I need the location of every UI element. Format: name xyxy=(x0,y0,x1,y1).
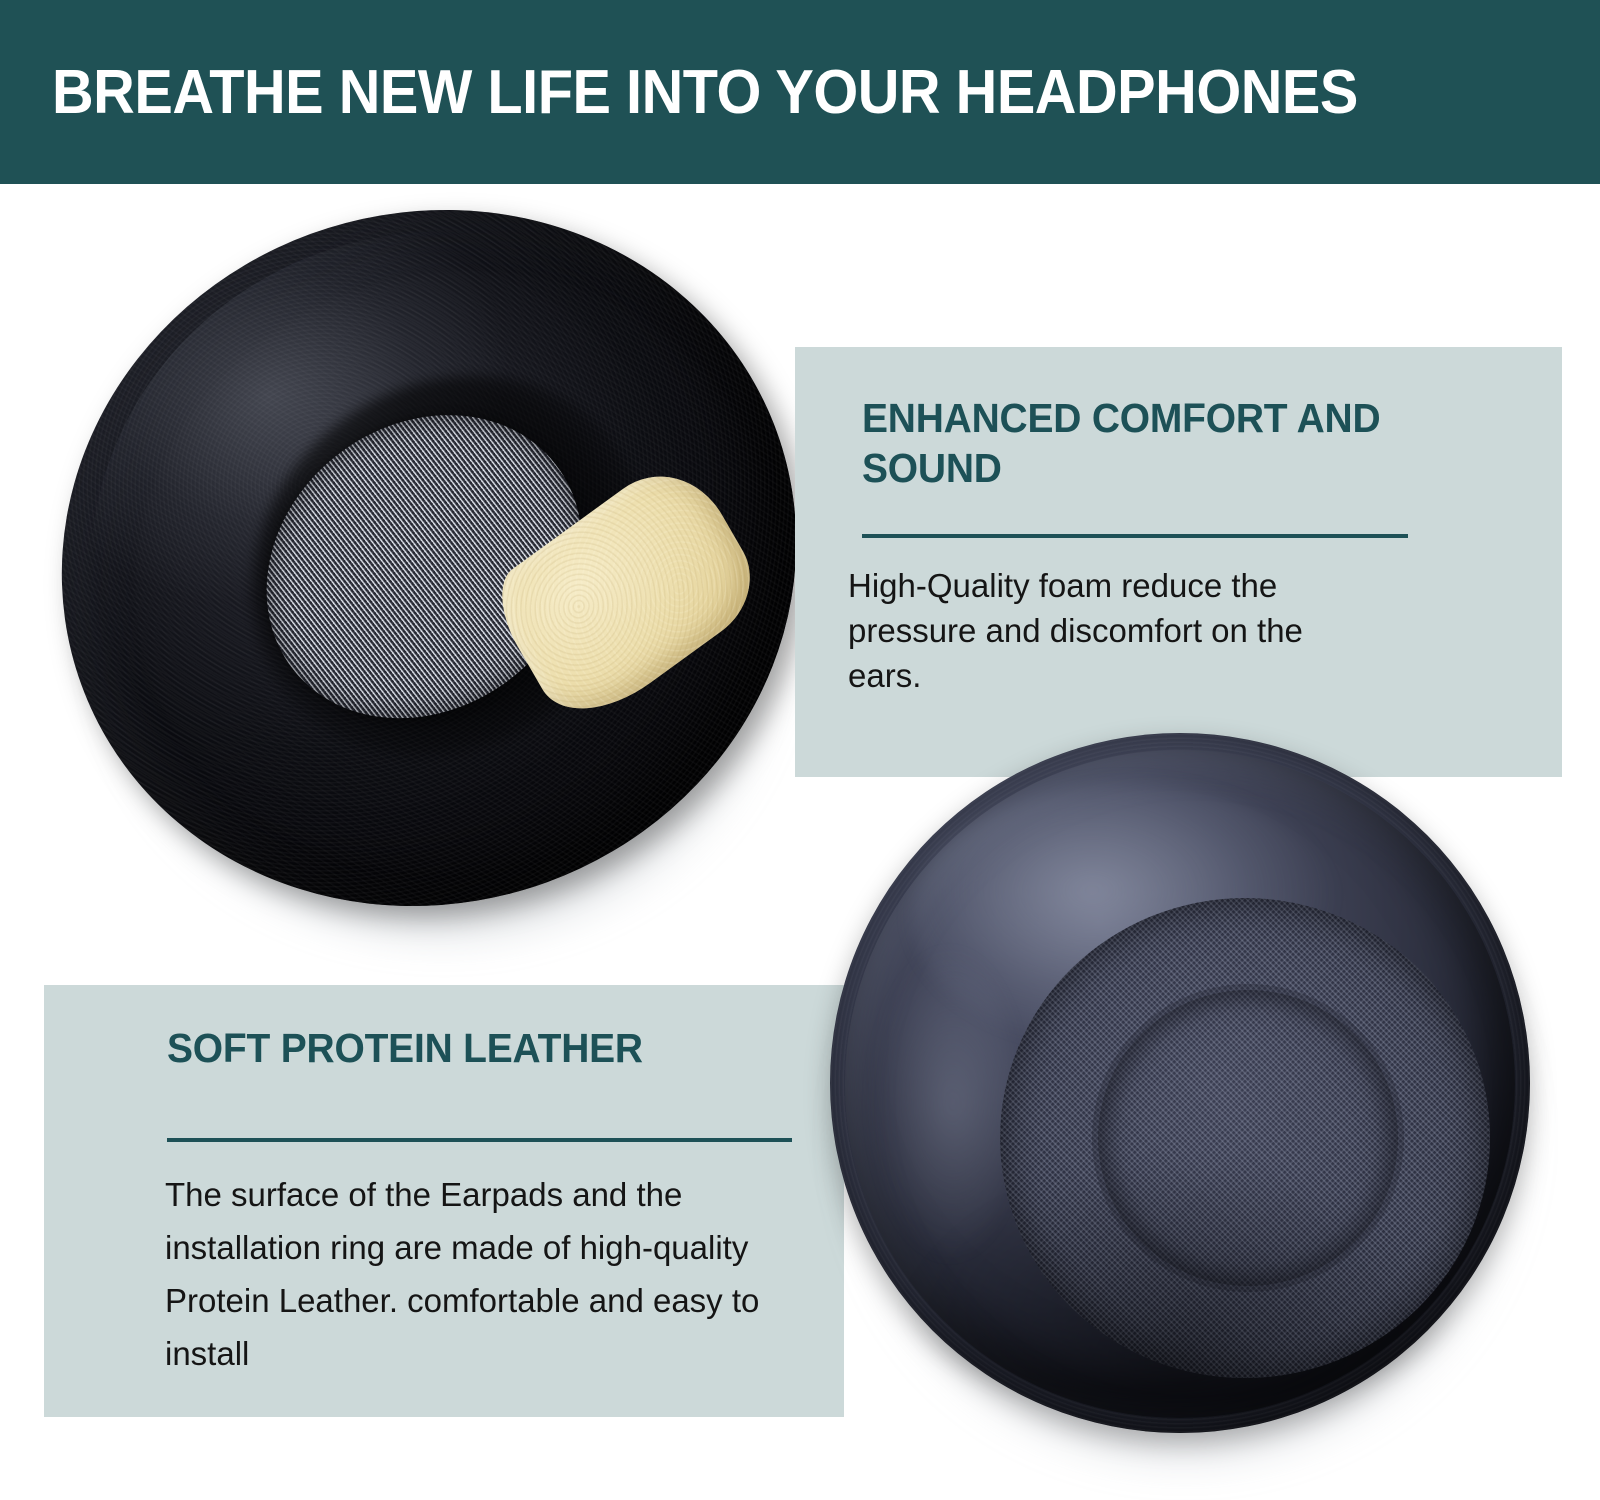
bottom-shading xyxy=(899,1164,1462,1404)
earpad-velour-angled-image xyxy=(35,195,835,955)
feature-heading-leather: SOFT PROTEIN LEATHER xyxy=(167,1023,794,1073)
feature-body-leather: The surface of the Earpads and the insta… xyxy=(165,1168,765,1380)
feature-heading-comfort: ENHANCED COMFORT AND SOUND xyxy=(862,393,1451,493)
earpad-leather-front-image xyxy=(785,695,1585,1495)
feature-divider-comfort xyxy=(862,534,1408,538)
product-feature-page: BREATHE NEW LIFE INTO YOUR HEADPHONES EN… xyxy=(0,0,1600,1500)
header-banner: BREATHE NEW LIFE INTO YOUR HEADPHONES xyxy=(0,0,1600,184)
feature-divider-leather xyxy=(167,1138,792,1142)
feature-body-comfort: High-Quality foam reduce the pressure an… xyxy=(848,563,1368,698)
earpad-velour-body xyxy=(0,107,895,1008)
page-title: BREATHE NEW LIFE INTO YOUR HEADPHONES xyxy=(52,58,1456,128)
protein-leather-ring xyxy=(845,750,1515,1418)
